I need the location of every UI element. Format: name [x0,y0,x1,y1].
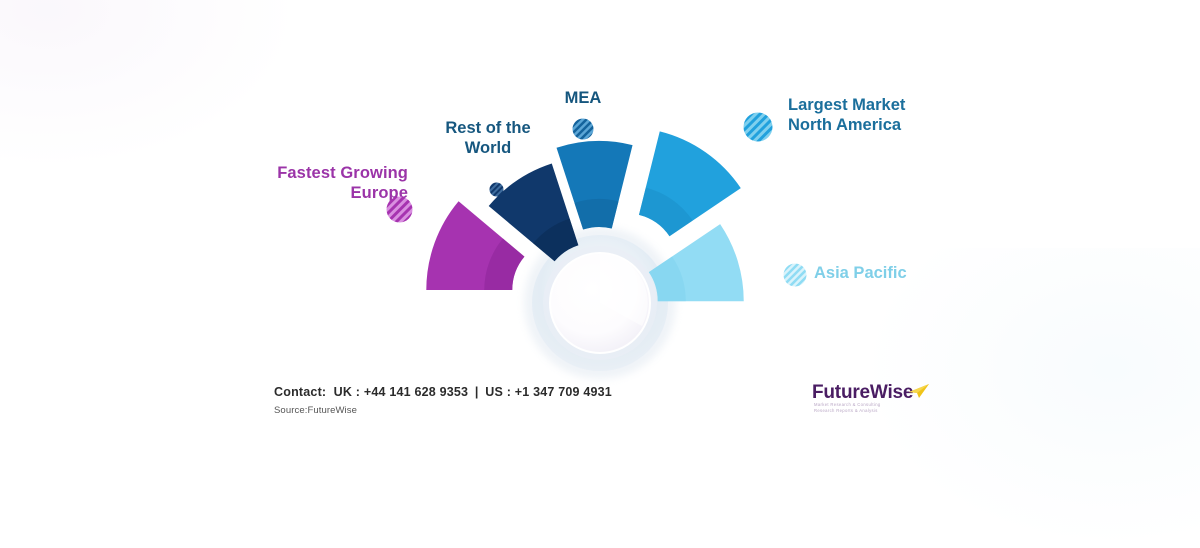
background-wash-top-left [0,0,300,170]
label-asia-pacific: Asia Pacific [814,263,954,283]
label-mea-line1: MEA [540,88,626,108]
us-phone: +1 347 709 4931 [515,385,612,399]
footer: Contact: UK : +44 141 628 9353 | US : +1… [0,376,1200,428]
label-na-line1: Largest Market [788,95,938,115]
asia-pacific-bullet [783,263,807,287]
infographic-canvas: Fastest Growing Europe Rest of the World… [0,0,1200,428]
rest-of-the-world-bullet [489,182,504,197]
us-label: US : [485,385,511,399]
logo-tagline-1: Market Research & Consulting [814,402,881,407]
donut-hub [543,246,657,360]
source-line: Source:FutureWise [274,405,357,416]
contact-label: Contact: [274,385,326,399]
uk-label: UK : [334,385,361,399]
logo-wordmark: FutureWise [812,382,913,404]
mea-bullet [572,118,594,140]
pie-slice-shade-2 [574,199,618,230]
label-europe-line1: Fastest Growing [258,163,408,183]
label-north-america: Largest Market North America [788,95,938,135]
futurewise-logo: FutureWise Market Research & Consulting … [812,382,932,416]
label-na-line2: North America [788,115,938,135]
label-rest-of-the-world: Rest of the World [432,118,544,158]
label-row-line2: World [432,138,544,158]
label-mea: MEA [540,88,626,108]
paper-plane-icon [908,383,930,399]
label-ap-line1: Asia Pacific [814,263,954,283]
europe-bullet [386,196,413,223]
contact-line: Contact: UK : +44 141 628 9353 | US : +1… [274,385,612,399]
uk-phone: +44 141 628 9353 [364,385,468,399]
contact-separator: | [472,385,482,399]
label-row-line1: Rest of the [432,118,544,138]
logo-tagline-2: Research Reports & Analysis [814,408,878,413]
north-america-bullet [743,112,773,142]
